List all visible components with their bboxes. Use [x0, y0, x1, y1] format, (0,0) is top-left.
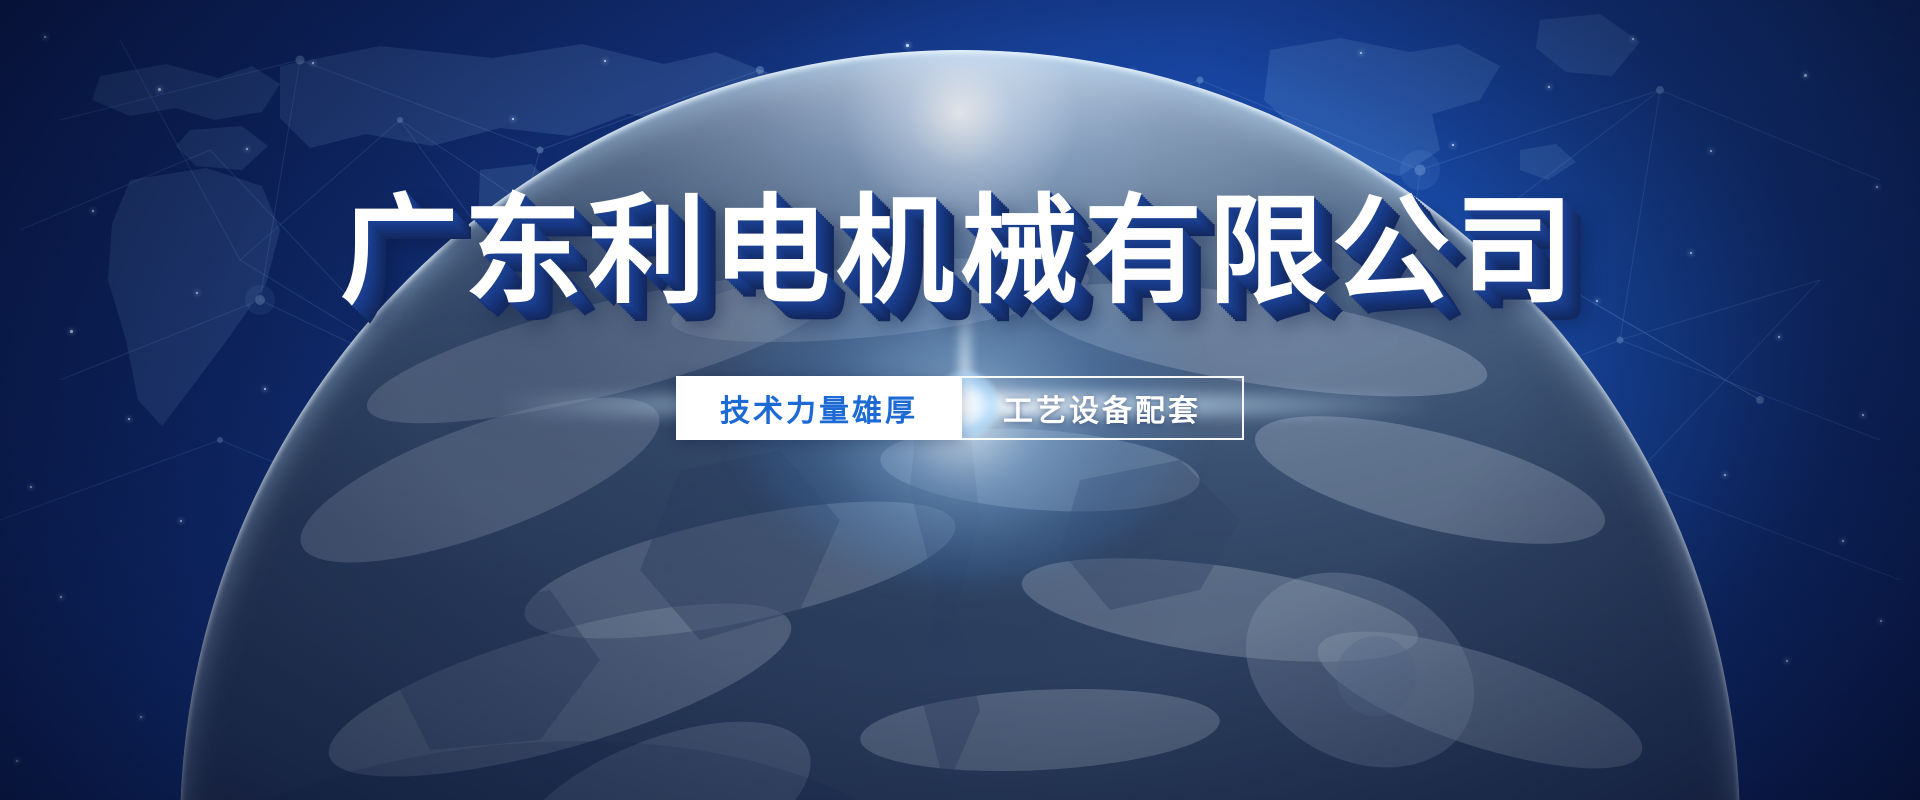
banner-content: 广东利电机械有限公司 技术力量雄厚 工艺设备配套 [0, 0, 1920, 800]
hero-banner: 广东利电机械有限公司 技术力量雄厚 工艺设备配套 [0, 0, 1920, 800]
tagline-badge-technical-strength[interactable]: 技术力量雄厚 [676, 376, 962, 440]
company-title: 广东利电机械有限公司 [0, 188, 1920, 316]
tagline-badge-equipment-support[interactable]: 工艺设备配套 [962, 376, 1244, 440]
tagline-badge-group: 技术力量雄厚 工艺设备配套 [0, 376, 1920, 440]
